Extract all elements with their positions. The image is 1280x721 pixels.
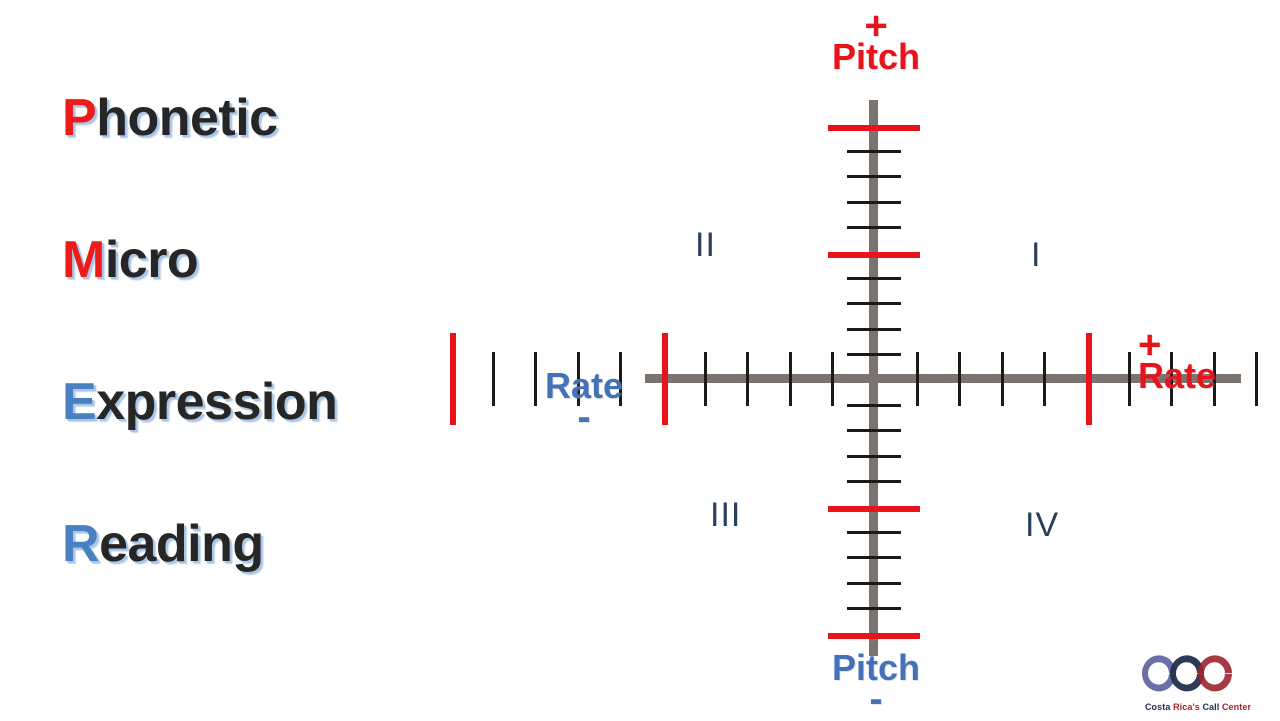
rate-minor-tick	[916, 352, 919, 406]
pitch-minor-tick	[847, 328, 901, 331]
pitch-minor-tick	[847, 404, 901, 407]
pitch-minor-tick	[847, 226, 901, 229]
logo-word-center: Center	[1222, 702, 1251, 712]
rate-minor-tick	[492, 352, 495, 406]
logo-word-call: Call	[1202, 702, 1219, 712]
pitch-minor-tick	[847, 531, 901, 534]
quadrant-label-ii: II	[695, 226, 716, 265]
acronym-initial-p: P	[62, 89, 96, 147]
acronym-rest-phonetic: honetic	[96, 89, 277, 147]
pitch-minor-tick	[847, 277, 901, 280]
pitch-major-tick	[828, 252, 920, 258]
logo-word-ricas: Rica's	[1173, 702, 1200, 712]
acronym-item-reading: Reading	[62, 518, 492, 570]
acronym-list: Phonetic Micro Expression Reading	[62, 92, 492, 570]
pitch-major-tick	[828, 125, 920, 131]
acronym-rest-micro: icro	[105, 231, 198, 289]
pitch-minor-tick	[847, 175, 901, 178]
pitch-rate-quadrant-chart: + Pitch Pitch - + Rate Rate - II I III I…	[500, 0, 1280, 720]
rate-minor-tick	[1128, 352, 1131, 406]
acronym-item-expression: Expression	[62, 376, 492, 428]
rate-minor-tick	[746, 352, 749, 406]
acronym-initial-r: R	[62, 515, 99, 573]
rate-minor-tick	[1001, 352, 1004, 406]
pitch-minor-tick	[847, 455, 901, 458]
pitch-minor-tick	[847, 582, 901, 585]
logo-c-red	[1198, 655, 1232, 691]
pitch-major-tick	[828, 506, 920, 512]
rate-major-tick	[1086, 333, 1092, 425]
axis-label-rate-positive: + Rate	[1138, 333, 1216, 395]
rate-minor-tick	[958, 352, 961, 406]
pitch-major-tick	[828, 633, 920, 639]
logo-text: Costa Rica's Call Center	[1134, 702, 1262, 712]
rate-minor-tick	[831, 352, 834, 406]
pitch-minor-tick	[847, 201, 901, 204]
axis-label-pitch-negative: Pitch -	[816, 650, 936, 709]
pitch-minor-tick	[847, 607, 901, 610]
axis-label-rate-negative: Rate -	[534, 368, 634, 427]
acronym-rest-expression: xpression	[96, 373, 337, 431]
pitch-minor-tick	[847, 302, 901, 305]
logo-word-costa: Costa	[1145, 702, 1171, 712]
acronym-item-micro: Micro	[62, 234, 492, 286]
rate-major-tick	[450, 333, 456, 425]
acronym-initial-e: E	[62, 373, 96, 431]
acronym-rest-reading: eading	[99, 515, 264, 573]
pitch-minus-sign: -	[816, 689, 936, 709]
rate-minor-tick	[704, 352, 707, 406]
quadrant-label-iv: IV	[1025, 506, 1059, 545]
pitch-plus-text: Pitch	[832, 36, 920, 77]
rate-plus-text: Rate	[1138, 355, 1216, 396]
rate-major-tick	[662, 333, 668, 425]
acronym-item-phonetic: Phonetic	[62, 92, 492, 144]
acronym-initial-m: M	[62, 231, 105, 289]
company-logo: Costa Rica's Call Center	[1134, 654, 1262, 712]
rate-minus-sign: -	[534, 407, 634, 427]
pitch-minor-tick	[847, 353, 901, 356]
pitch-minor-tick	[847, 556, 901, 559]
logo-mark-icon	[1140, 654, 1260, 692]
pitch-minor-tick	[847, 480, 901, 483]
quadrant-label-i: I	[1031, 236, 1041, 275]
rate-minor-tick	[1043, 352, 1046, 406]
quadrant-label-iii: III	[710, 496, 741, 535]
pitch-minor-tick	[847, 429, 901, 432]
axis-label-pitch-positive: + Pitch	[816, 14, 936, 76]
pitch-minor-tick	[847, 150, 901, 153]
rate-minor-tick	[1255, 352, 1258, 406]
rate-minor-tick	[789, 352, 792, 406]
